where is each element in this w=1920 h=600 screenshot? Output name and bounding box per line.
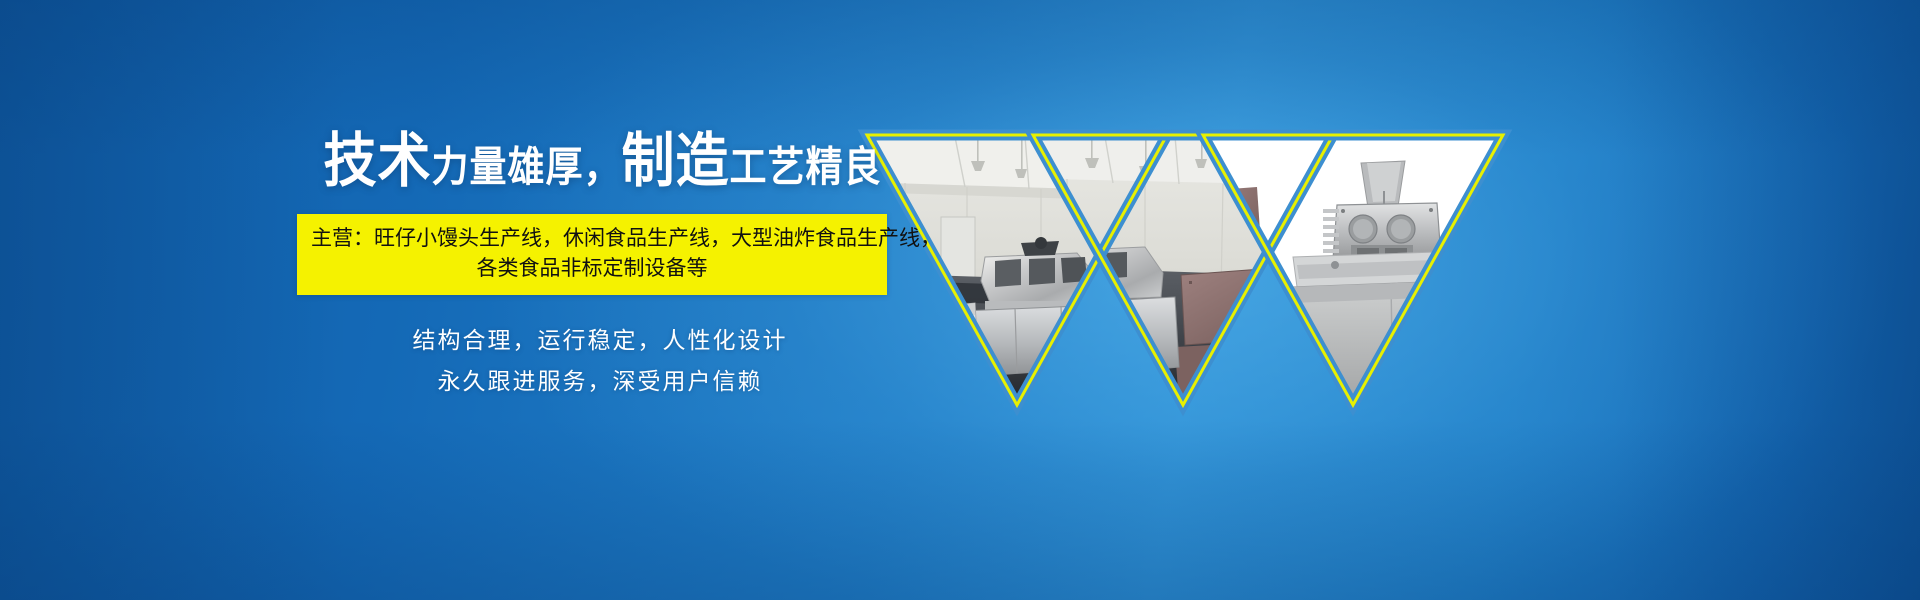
subtext-line-2: 永久跟进服务，深受用户信赖 bbox=[300, 362, 900, 404]
subtext-line-1: 结构合理，运行稳定，人性化设计 bbox=[300, 321, 900, 363]
banner-headline: 技术力量雄厚，制造工艺精良 bbox=[305, 132, 900, 191]
headline-part-4: 工艺精良 bbox=[730, 143, 882, 191]
triangle-photo-collage bbox=[845, 105, 1525, 435]
highlight-line-1: 主营：旺仔小馒头生产线，休闲食品生产线，大型油炸食品生产线， bbox=[311, 224, 873, 254]
headline-part-1: 技术 bbox=[324, 127, 432, 195]
headline-part-3: 制造 bbox=[622, 127, 730, 195]
highlight-box: 主营：旺仔小馒头生产线，休闲食品生产线，大型油炸食品生产线， 各类食品非标定制设… bbox=[297, 214, 887, 295]
banner-subtext: 结构合理，运行稳定，人性化设计 永久跟进服务，深受用户信赖 bbox=[300, 321, 900, 405]
promotional-banner: 技术力量雄厚，制造工艺精良 主营：旺仔小馒头生产线，休闲食品生产线，大型油炸食品… bbox=[0, 0, 1920, 600]
highlight-line-2: 各类食品非标定制设备等 bbox=[311, 254, 873, 284]
banner-text-column: 技术力量雄厚，制造工艺精良 主营：旺仔小馒头生产线，休闲食品生产线，大型油炸食品… bbox=[300, 138, 900, 404]
headline-part-2: 力量雄厚， bbox=[432, 143, 622, 191]
